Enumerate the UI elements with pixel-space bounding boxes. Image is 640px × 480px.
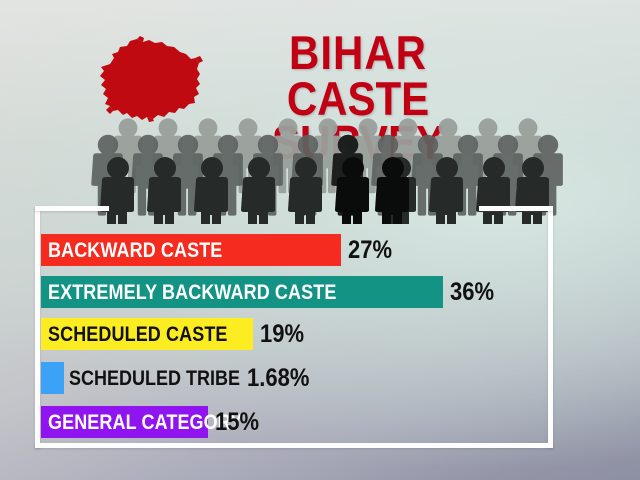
bar-label-scheduled-tribe: SCHEDULED TRIBE [69, 367, 240, 388]
bar-value-backward-caste: 27% [348, 237, 392, 262]
bar-extremely-backward-caste: EXTREMELY BACKWARD CASTE [41, 276, 443, 308]
bar-label-general-category: GENERAL CATEGORY [48, 411, 242, 432]
bar-value-scheduled-tribe: 1.68% [247, 365, 309, 390]
bar-value-extremely-backward-caste: 36% [450, 279, 494, 304]
caste-breakdown-bar-chart: BACKWARD CASTE27%EXTREMELY BACKWARD CAST… [0, 0, 640, 480]
bar-row-backward-caste: BACKWARD CASTE27% [41, 234, 392, 266]
bar-row-general-category: GENERAL CATEGORY15% [41, 406, 259, 438]
bar-general-category: GENERAL CATEGORY [41, 406, 208, 438]
bar-label-backward-caste: BACKWARD CASTE [48, 239, 222, 260]
bar-backward-caste: BACKWARD CASTE [41, 234, 341, 266]
bar-value-general-category: 15% [215, 409, 259, 434]
infographic-canvas: BIHAR CASTE SURVEY [0, 0, 640, 480]
bar-row-scheduled-caste: SCHEDULED CASTE19% [41, 318, 304, 350]
bar-label-extremely-backward-caste: EXTREMELY BACKWARD CASTE [48, 281, 336, 302]
bar-row-extremely-backward-caste: EXTREMELY BACKWARD CASTE36% [41, 276, 494, 308]
bar-scheduled-tribe [41, 362, 64, 394]
bar-row-scheduled-tribe: SCHEDULED TRIBE1.68% [41, 362, 309, 394]
bar-label-scheduled-caste: SCHEDULED CASTE [48, 323, 228, 344]
bar-value-scheduled-caste: 19% [260, 321, 304, 346]
bar-scheduled-caste: SCHEDULED CASTE [41, 318, 253, 350]
